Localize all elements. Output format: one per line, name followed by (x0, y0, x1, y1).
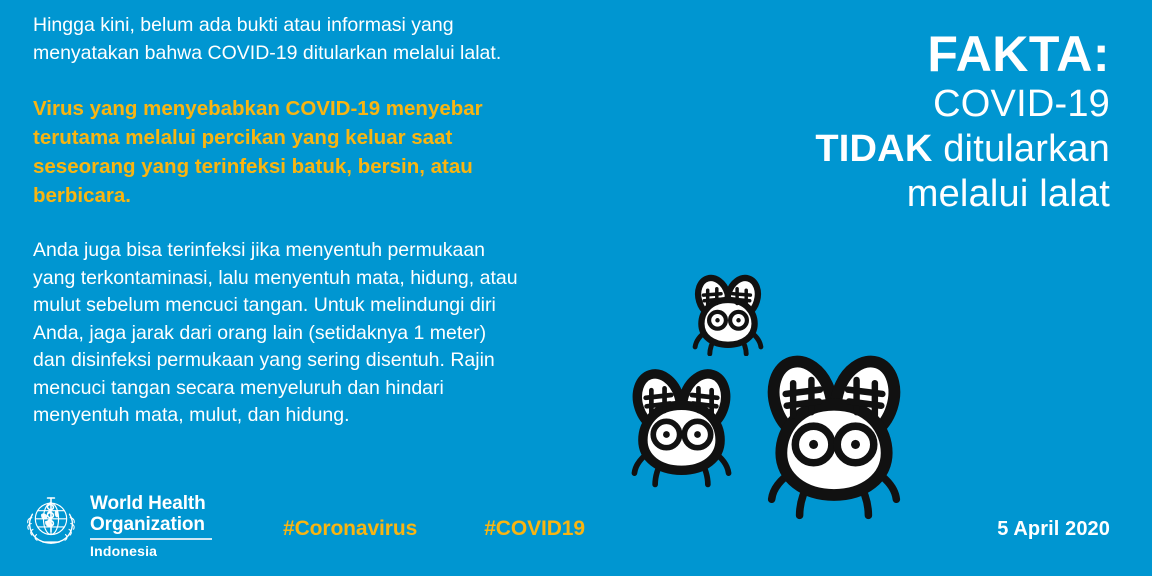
fly-medium-illustration (625, 365, 738, 489)
fly-large-illustration (758, 352, 910, 524)
who-covid-infographic: Hingga kini, belum ada bukti atau inform… (0, 0, 1152, 576)
headline-melalui-lalat: melalui lalat (680, 172, 1110, 217)
who-logo: World Health Organization Indonesia (22, 491, 212, 559)
headline-ditularkan: ditularkan (932, 128, 1110, 170)
headline-fakta: FAKTA: (680, 26, 1110, 82)
paragraph-intro: Hingga kini, belum ada bukti atau inform… (33, 12, 658, 67)
publication-date: 5 April 2020 (997, 518, 1110, 541)
headline-tidak: TIDAK (815, 128, 932, 170)
who-emblem-icon (22, 491, 80, 549)
who-divider (90, 538, 212, 540)
who-name-line1: World Health (90, 493, 212, 514)
fly-small-illustration (686, 272, 770, 356)
body-copy-column: Hingga kini, belum ada bukti atau inform… (33, 12, 658, 430)
headline-block: FAKTA: COVID-19 TIDAK ditularkan melalui… (680, 26, 1110, 217)
paragraph-guidance: Anda juga bisa terinfeksi jika menyentuh… (33, 237, 658, 430)
who-country-label: Indonesia (90, 543, 212, 559)
hashtag-group: #Coronavirus #COVID19 (283, 517, 585, 541)
paragraph-highlight: Virus yang menyebabkan COVID-19 menyebar… (33, 94, 658, 210)
hashtag-coronavirus: #Coronavirus (283, 517, 417, 541)
who-wordmark: World Health Organization Indonesia (90, 491, 212, 559)
headline-tidak-ditularkan: TIDAK ditularkan (680, 127, 1110, 172)
hashtag-covid19: #COVID19 (484, 517, 585, 541)
who-name-line2: Organization (90, 514, 212, 535)
headline-covid19: COVID-19 (680, 82, 1110, 127)
